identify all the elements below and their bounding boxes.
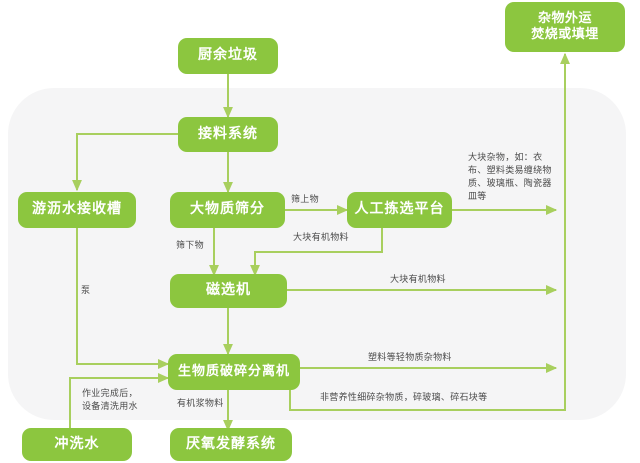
edge-label-plastic-light: 塑料等轻物质杂物料	[368, 352, 452, 365]
node-manual-sorting[interactable]: 人工拣选平台	[347, 192, 452, 228]
node-manual-sorting-label: 人工拣选平台	[355, 201, 445, 219]
node-receiving-system-label: 接料系统	[198, 126, 258, 144]
node-bulk-screening-label: 大物质筛分	[190, 201, 265, 219]
node-magnetic-separator-label: 磁选机	[206, 282, 251, 300]
edge-label-bulk-organic-out: 大块有机物料	[390, 274, 446, 287]
node-receiving-system[interactable]: 接料系统	[178, 117, 278, 152]
node-kitchen-waste[interactable]: 厨余垃圾	[178, 38, 278, 74]
node-misc-transport-label: 杂物外运 焚烧或填埋	[531, 11, 599, 44]
node-kitchen-waste-label: 厨余垃圾	[198, 47, 258, 65]
edge-label-cleaning-water: 作业完成后， 设备清洗用水	[82, 388, 138, 414]
node-biomass-crusher[interactable]: 生物质破碎分离机	[168, 354, 300, 390]
edge-receiving-to-leachate	[77, 134, 178, 190]
node-leachate-tank-label: 游沥水接收槽	[32, 201, 122, 219]
edge-label-oversize: 筛上物	[291, 194, 319, 207]
node-flush-water[interactable]: 冲洗水	[22, 428, 132, 461]
node-leachate-tank[interactable]: 游沥水接收槽	[18, 192, 136, 228]
edge-label-bulk-organic-return: 大块有机物料	[293, 232, 349, 245]
node-biomass-crusher-label: 生物质破碎分离机	[178, 364, 290, 380]
edge-label-fine-inert: 非营养性细碎杂物质，碎玻璃、碎石块等	[320, 392, 487, 405]
node-anaerobic-system[interactable]: 厌氧发酵系统	[170, 428, 292, 461]
edge-label-organic-slurry: 有机浆物料	[177, 398, 224, 411]
node-bulk-screening[interactable]: 大物质筛分	[170, 192, 285, 228]
edge-label-bulk-debris: 大块杂物，如：衣布、塑料类易缠绕物质、玻璃瓶、陶瓷器皿等	[468, 152, 556, 204]
flowchart-canvas: 杂物外运 焚烧或填埋 厨余垃圾 接料系统 游沥水接收槽 大物质筛分 人工拣选平台…	[0, 0, 640, 463]
node-misc-transport[interactable]: 杂物外运 焚烧或填埋	[505, 2, 625, 52]
node-anaerobic-system-label: 厌氧发酵系统	[186, 436, 276, 454]
edge-label-undersize: 筛下物	[176, 240, 204, 253]
node-flush-water-label: 冲洗水	[55, 436, 100, 454]
edge-leachate-to-crusher	[77, 228, 168, 364]
node-magnetic-separator[interactable]: 磁选机	[170, 274, 287, 308]
edge-label-pump: 泵	[81, 285, 90, 298]
